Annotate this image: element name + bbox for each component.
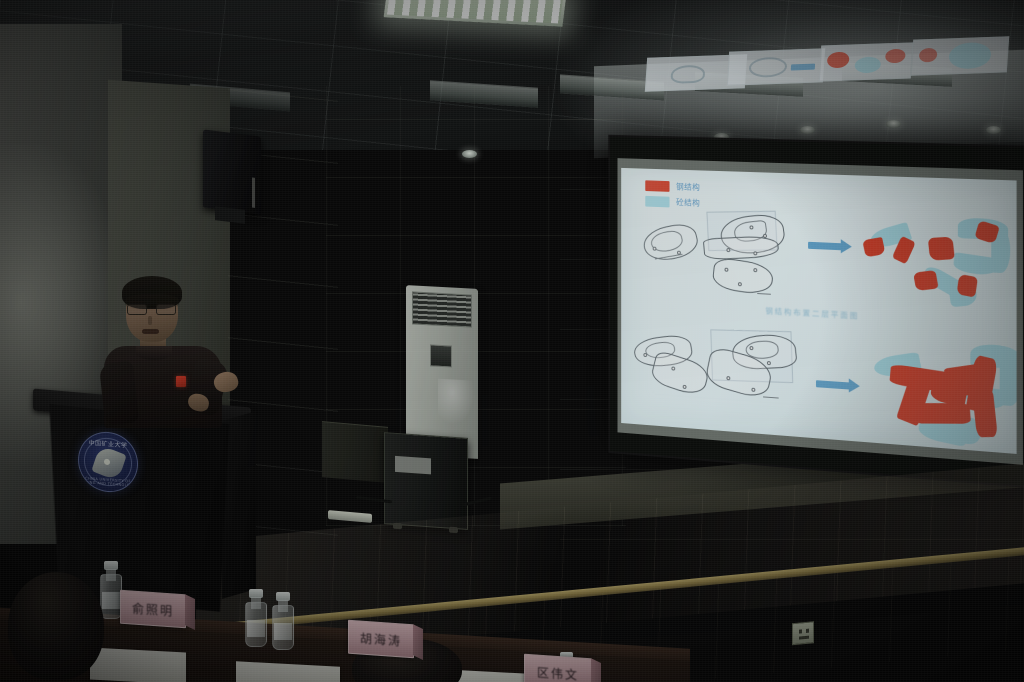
glasses-lens-right [156, 304, 176, 315]
glasses-lens-left [127, 304, 147, 315]
equipment-case-label [395, 456, 431, 475]
air-conditioner-unit [406, 285, 478, 459]
ceiling-projection-spill [727, 48, 825, 85]
ceiling-projection-spill [911, 36, 1010, 75]
side-table [322, 421, 388, 483]
bottle-label [102, 592, 120, 608]
ceiling-projection-spill [819, 42, 914, 81]
bottle-body [245, 602, 267, 647]
lecture-hall-scene: 钢结构 砼结构 [0, 0, 1024, 682]
placard-side [185, 594, 195, 630]
bottle-body [272, 605, 294, 650]
presenter-nose [148, 316, 152, 325]
floor-plan-sketch [642, 219, 708, 271]
bottle-label [247, 620, 265, 636]
wall-speaker-icon [203, 129, 261, 214]
steel-structure-swatch-icon [645, 180, 669, 192]
placard-side [413, 624, 423, 660]
paper-document [90, 647, 186, 682]
ac-control-panel[interactable] [430, 344, 452, 367]
presenter-mouth [142, 329, 159, 334]
floor-plan-sketch-center [704, 327, 818, 412]
name-placard: 胡海涛 [348, 620, 414, 659]
placard-name: 胡海涛 [360, 629, 402, 649]
presenter-collar [136, 346, 172, 360]
glasses-bridge [147, 308, 156, 309]
name-placard: 区伟文 [524, 654, 592, 682]
placard-side [591, 658, 601, 682]
placard-name: 区伟文 [537, 663, 579, 682]
outlet-slot [799, 636, 809, 640]
ac-grille-icon [412, 291, 472, 327]
presenter-brow [156, 301, 172, 303]
water-bottle[interactable] [272, 592, 294, 650]
water-bottle[interactable] [100, 561, 122, 619]
placard-name: 俞照明 [132, 599, 174, 619]
bottle-body [100, 574, 122, 619]
emblem-center-dot [104, 459, 110, 465]
floor-plan-sketch-lower [711, 255, 782, 302]
diagram-lower: 钢结构布置首层平面图 [621, 321, 1016, 454]
structural-layout-upper [860, 212, 1015, 317]
name-placard: 俞照明 [120, 590, 186, 629]
presenter-left-arm [99, 360, 139, 425]
placard-face: 俞照明 [120, 590, 186, 629]
equipment-case [384, 432, 468, 530]
structural-layout-lower [868, 335, 1017, 454]
audience-head [8, 572, 104, 680]
placard-face: 区伟文 [524, 654, 592, 682]
transform-arrow-icon [808, 242, 842, 251]
legend-label-steel: 钢结构 [676, 181, 700, 193]
legend-item-steel: 钢结构 [645, 180, 700, 193]
presenter [104, 276, 244, 426]
presentation-slide: 钢结构 砼结构 [621, 168, 1016, 454]
ac-reflection [438, 379, 474, 425]
presenter-brow [129, 301, 145, 303]
transform-arrow-icon [816, 380, 850, 389]
university-emblem: 中国矿业大学 CHINA UNIVERSITY OF MINING AND TE… [78, 430, 138, 494]
power-outlet[interactable] [792, 621, 814, 645]
water-bottle[interactable] [245, 589, 267, 647]
screen-surface: 钢结构 砼结构 [617, 158, 1022, 465]
presenter-badge [176, 376, 186, 387]
placard-face: 胡海涛 [348, 620, 414, 659]
projection-screen: 钢结构 砼结构 [608, 135, 1024, 489]
diagram-upper: 钢结构布置二层平面图 [621, 201, 1016, 338]
bottle-label [274, 623, 292, 639]
glasses-icon [126, 304, 178, 316]
